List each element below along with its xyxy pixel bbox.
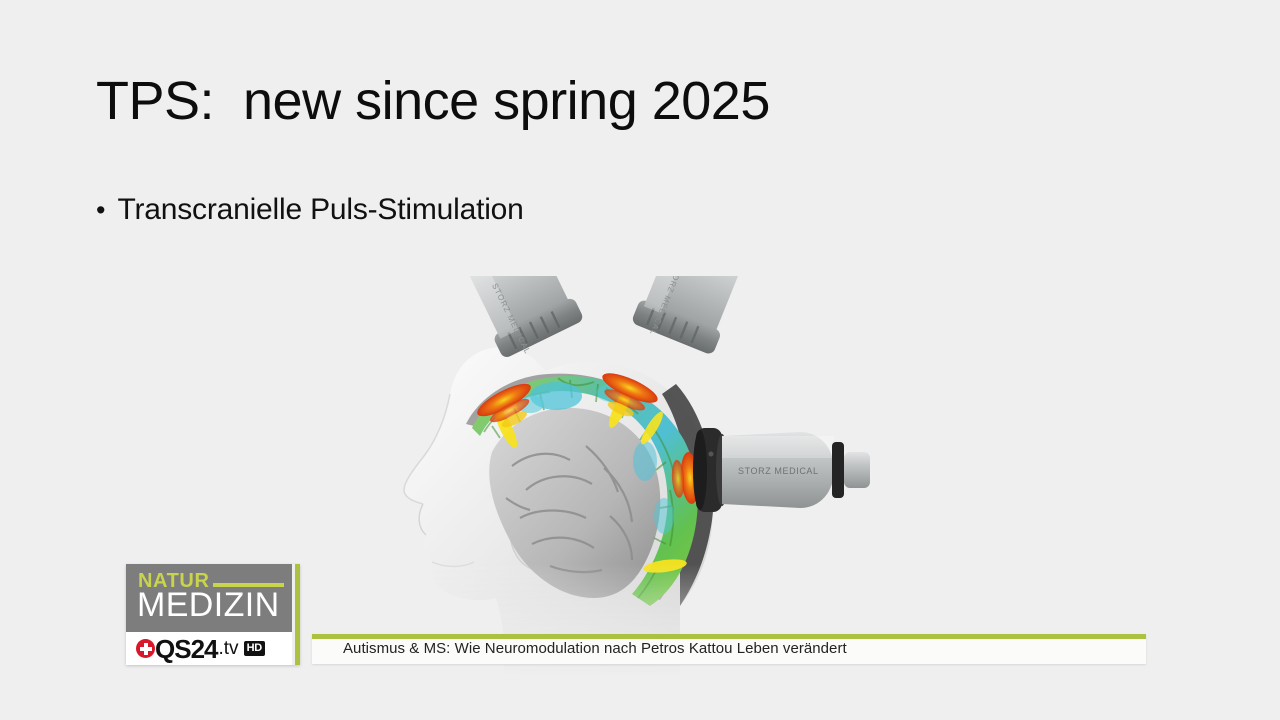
logo-top-panel: NATUR MEDIZIN: [126, 564, 292, 632]
bullet-marker-icon: •: [96, 197, 105, 224]
logo-hd-badge: HD: [244, 641, 265, 656]
upper-right-handpiece: STORZ MEDICAL: [629, 276, 761, 359]
page-title: TPS: new since spring 2025: [96, 70, 770, 132]
device-label: STORZ MEDICAL: [738, 466, 819, 476]
bullet-item-label: Transcranielle Puls-Stimulation: [117, 193, 523, 227]
ticker-accent-bar: [312, 634, 1146, 639]
logo-domain-text: .tv: [219, 639, 239, 658]
right-side-handpiece: STORZ MEDICAL: [693, 428, 870, 512]
channel-logo: NATUR MEDIZIN QS24 .tv HD: [126, 564, 300, 665]
bullet-list-item: • Transcranielle Puls-Stimulation: [96, 193, 524, 227]
logo-bottom-panel: QS24 .tv HD: [126, 632, 292, 665]
lower-third-ticker: Autismus & MS: Wie Neuromodulation nach …: [312, 634, 1146, 664]
presentation-slide: TPS: new since spring 2025 • Transcranie…: [0, 0, 1280, 720]
logo-channel-text: QS24: [155, 636, 218, 662]
upper-left-handpiece: STORZ MEDICAL: [446, 276, 587, 364]
swiss-cross-icon: [136, 639, 155, 658]
tps-illustration: STORZ MEDICAL STORZ MEDICAL: [380, 276, 880, 676]
logo-medizin-text: MEDIZIN: [137, 588, 280, 622]
logo-accent-stripe: [295, 564, 300, 665]
ticker-headline: Autismus & MS: Wie Neuromodulation nach …: [343, 640, 847, 657]
